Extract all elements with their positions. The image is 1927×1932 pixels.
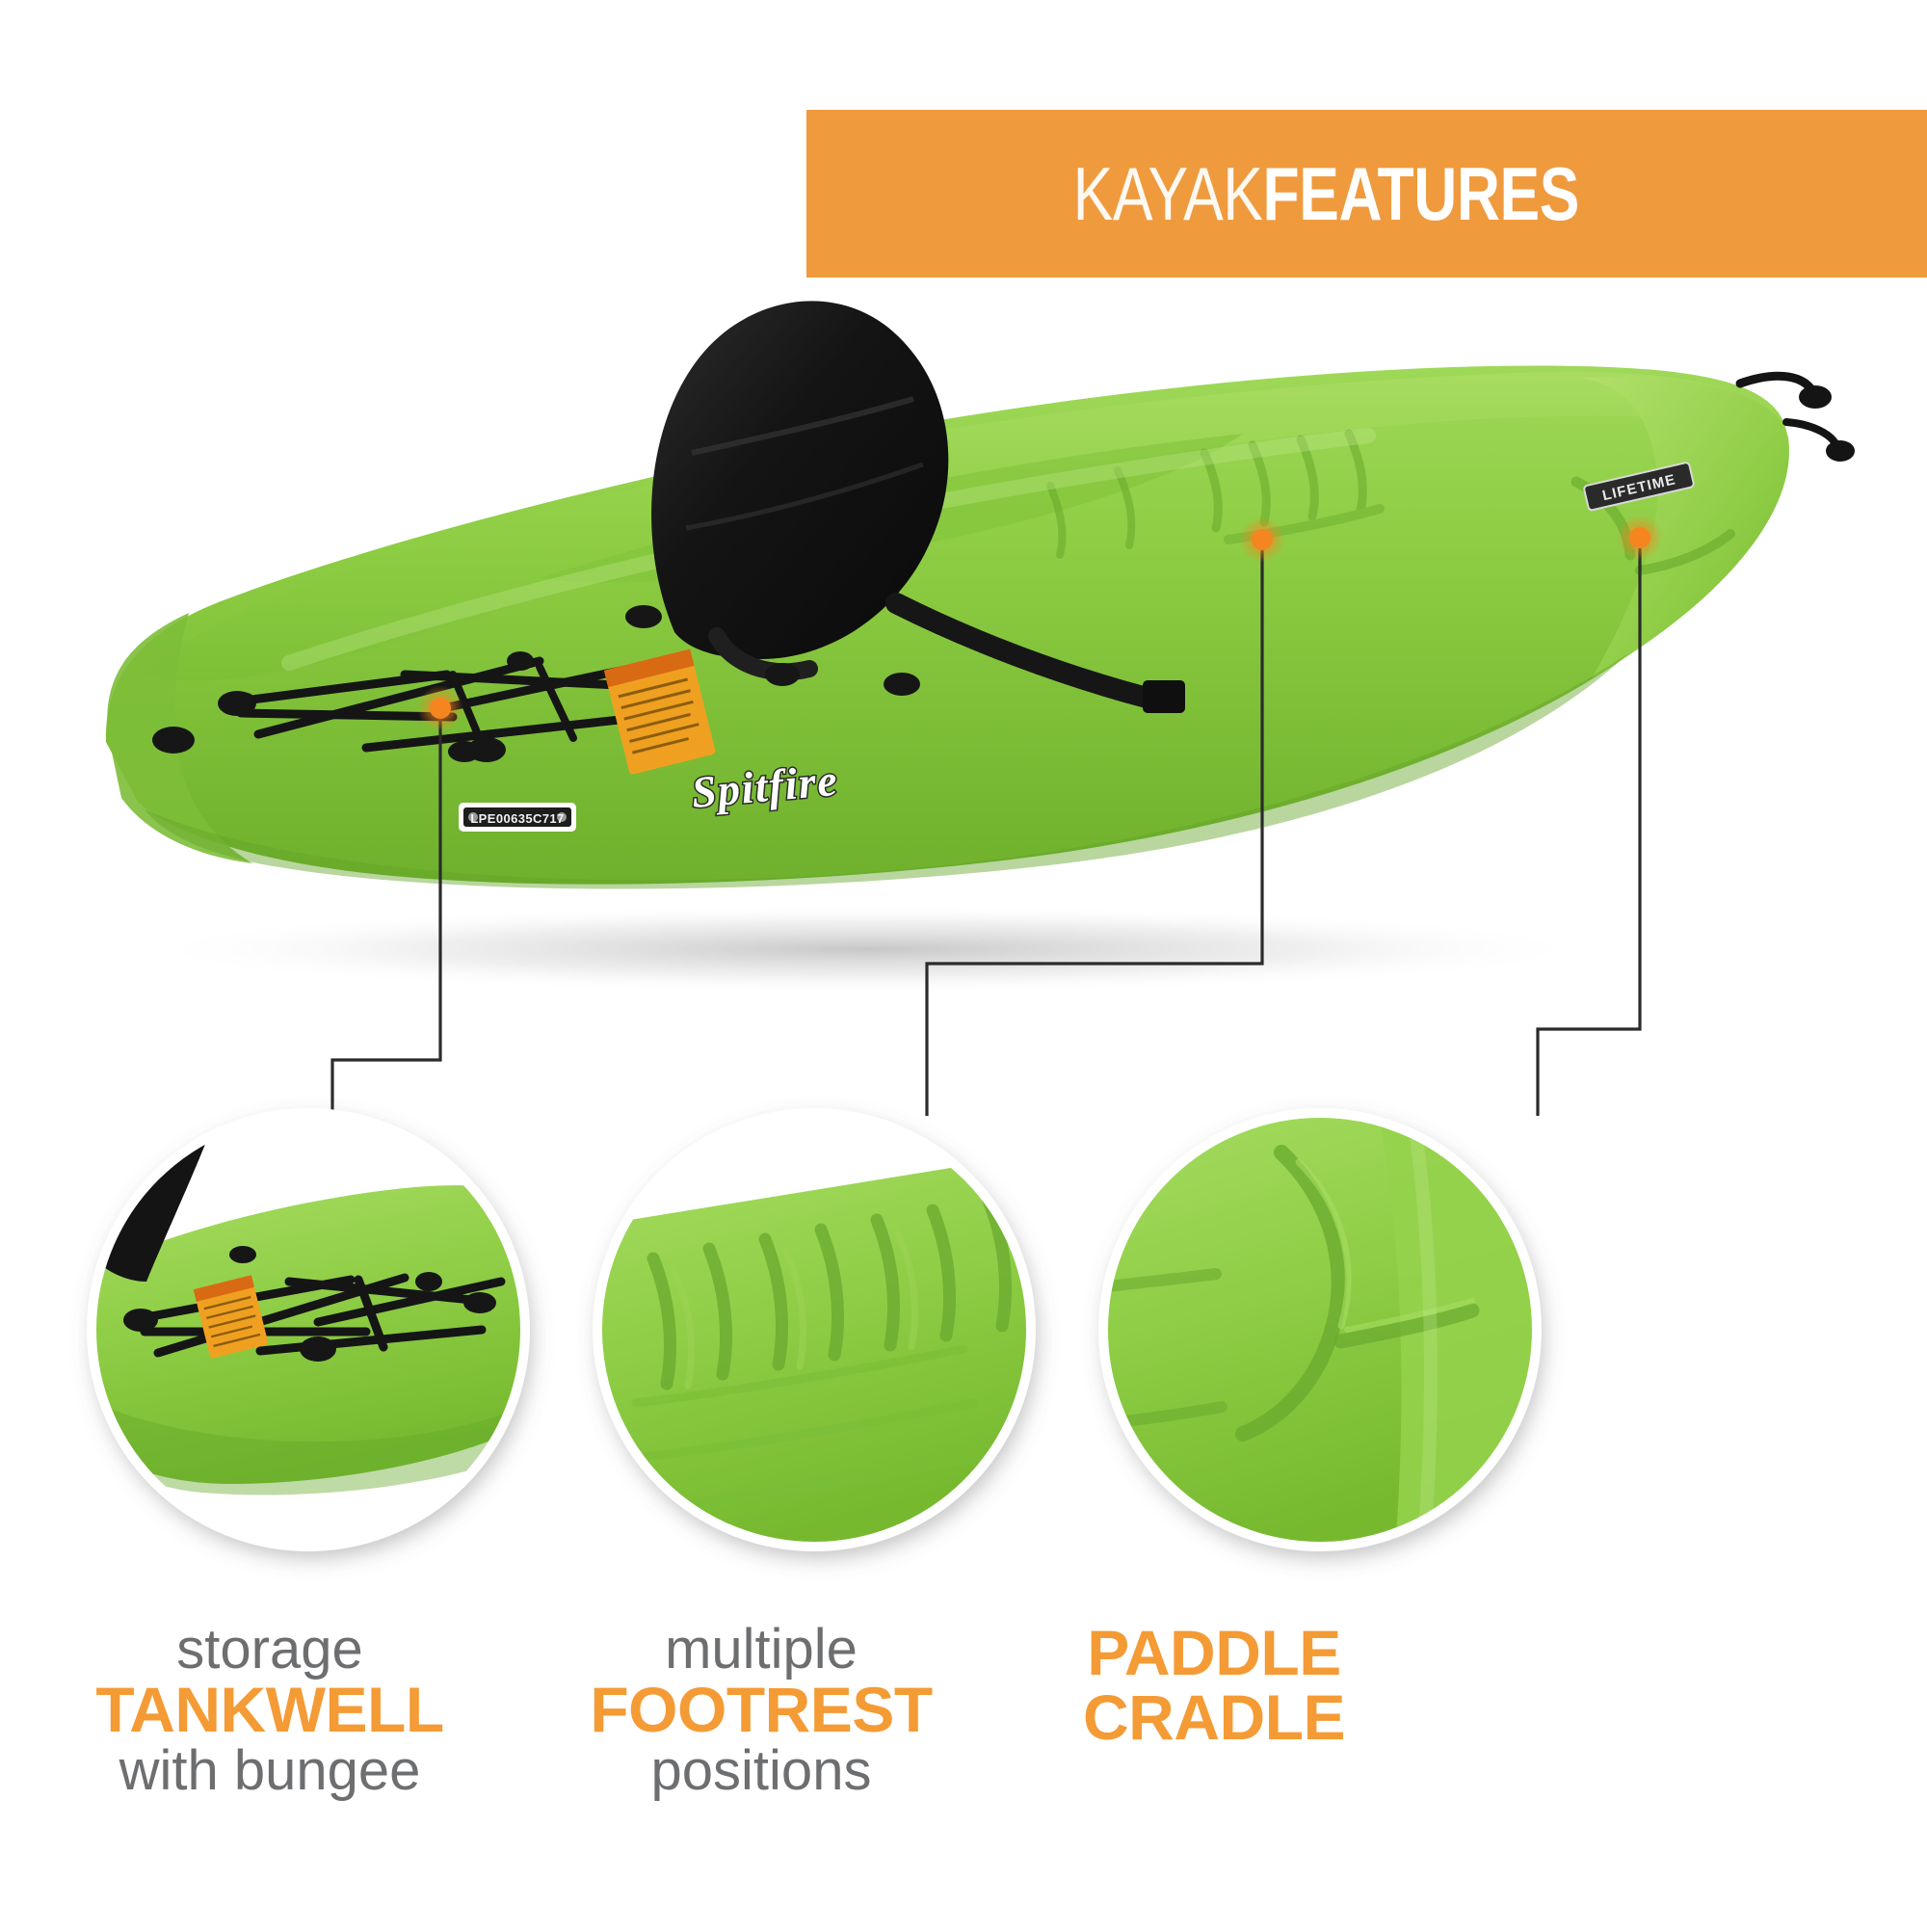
feature-caption-tankwell: storage TANKWELL with bungee [0, 1621, 540, 1800]
page-title-thin: KAYAK [1072, 151, 1262, 236]
marker-footrest [1239, 516, 1285, 563]
page-title-bold: FEATURES [1262, 151, 1578, 236]
kayak-ground-shadow [135, 905, 1599, 993]
marker-tankwell [417, 685, 463, 731]
caption-line-1: PADDLE [944, 1621, 1484, 1685]
caption-line-2: TANKWELL [0, 1678, 540, 1742]
seat-strap-buckle [1143, 680, 1185, 713]
marker-paddle-cradle [1617, 515, 1663, 561]
caption-line-3: with bungee [0, 1742, 540, 1799]
caption-line-2: CRADLE [944, 1685, 1484, 1750]
feature-caption-paddle-cradle: PADDLE CRADLE [944, 1621, 1484, 1751]
kayak-product-photo: LPE00635C717 Spitfire LIFETIME [106, 301, 1855, 993]
hull-serial-text: LPE00635C717 [470, 811, 564, 826]
hull-serial-plate: LPE00635C717 [459, 803, 576, 832]
header-banner: KAYAKFEATURES [806, 110, 1927, 278]
caption-line-1: storage [0, 1621, 540, 1678]
page-title: KAYAKFEATURES [1072, 156, 1578, 231]
caption-line-3: positions [491, 1742, 1031, 1799]
